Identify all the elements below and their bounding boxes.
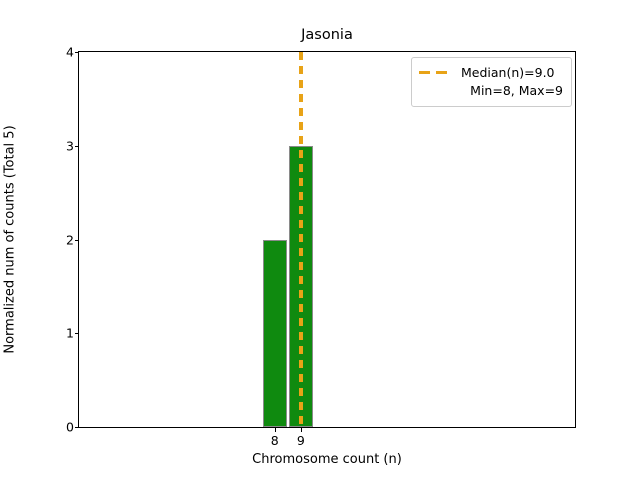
y-axis-label-text: Normalized num of counts (Total 5) bbox=[3, 125, 18, 353]
y-tick-mark bbox=[75, 146, 80, 147]
chart-figure: Jasonia Normalized num of counts (Total … bbox=[0, 0, 640, 480]
chart-legend: Median(n)=9.0 Min=8, Max=9 bbox=[411, 57, 572, 107]
y-tick-label: 2 bbox=[66, 232, 74, 247]
legend-label-median: Median(n)=9.0 bbox=[461, 64, 555, 82]
y-axis-label: Normalized num of counts (Total 5) bbox=[0, 51, 20, 428]
x-tick-label: 9 bbox=[297, 433, 305, 448]
y-tick-mark bbox=[75, 427, 80, 428]
x-tick-mark bbox=[275, 427, 276, 432]
y-tick-label: 1 bbox=[66, 326, 74, 341]
plot-inner bbox=[79, 52, 575, 427]
plot-area: 0123489 bbox=[78, 51, 576, 428]
legend-label-minmax: Min=8, Max=9 bbox=[470, 83, 563, 98]
y-tick-label: 3 bbox=[66, 138, 74, 153]
chart-title: Jasonia bbox=[78, 28, 576, 43]
y-tick-mark bbox=[75, 240, 80, 241]
y-tick-mark bbox=[75, 52, 80, 53]
x-tick-label: 8 bbox=[271, 433, 279, 448]
y-tick-label: 4 bbox=[66, 45, 74, 60]
y-tick-mark bbox=[75, 333, 80, 334]
x-tick-mark bbox=[301, 427, 302, 432]
legend-item-minmax: Min=8, Max=9 bbox=[419, 82, 563, 100]
median-line bbox=[299, 52, 302, 427]
bar bbox=[263, 240, 286, 428]
legend-item-median: Median(n)=9.0 bbox=[419, 64, 563, 82]
dashed-line-swatch-icon bbox=[419, 67, 453, 79]
x-axis-label: Chromosome count (n) bbox=[78, 452, 576, 467]
y-tick-label: 0 bbox=[66, 420, 74, 435]
